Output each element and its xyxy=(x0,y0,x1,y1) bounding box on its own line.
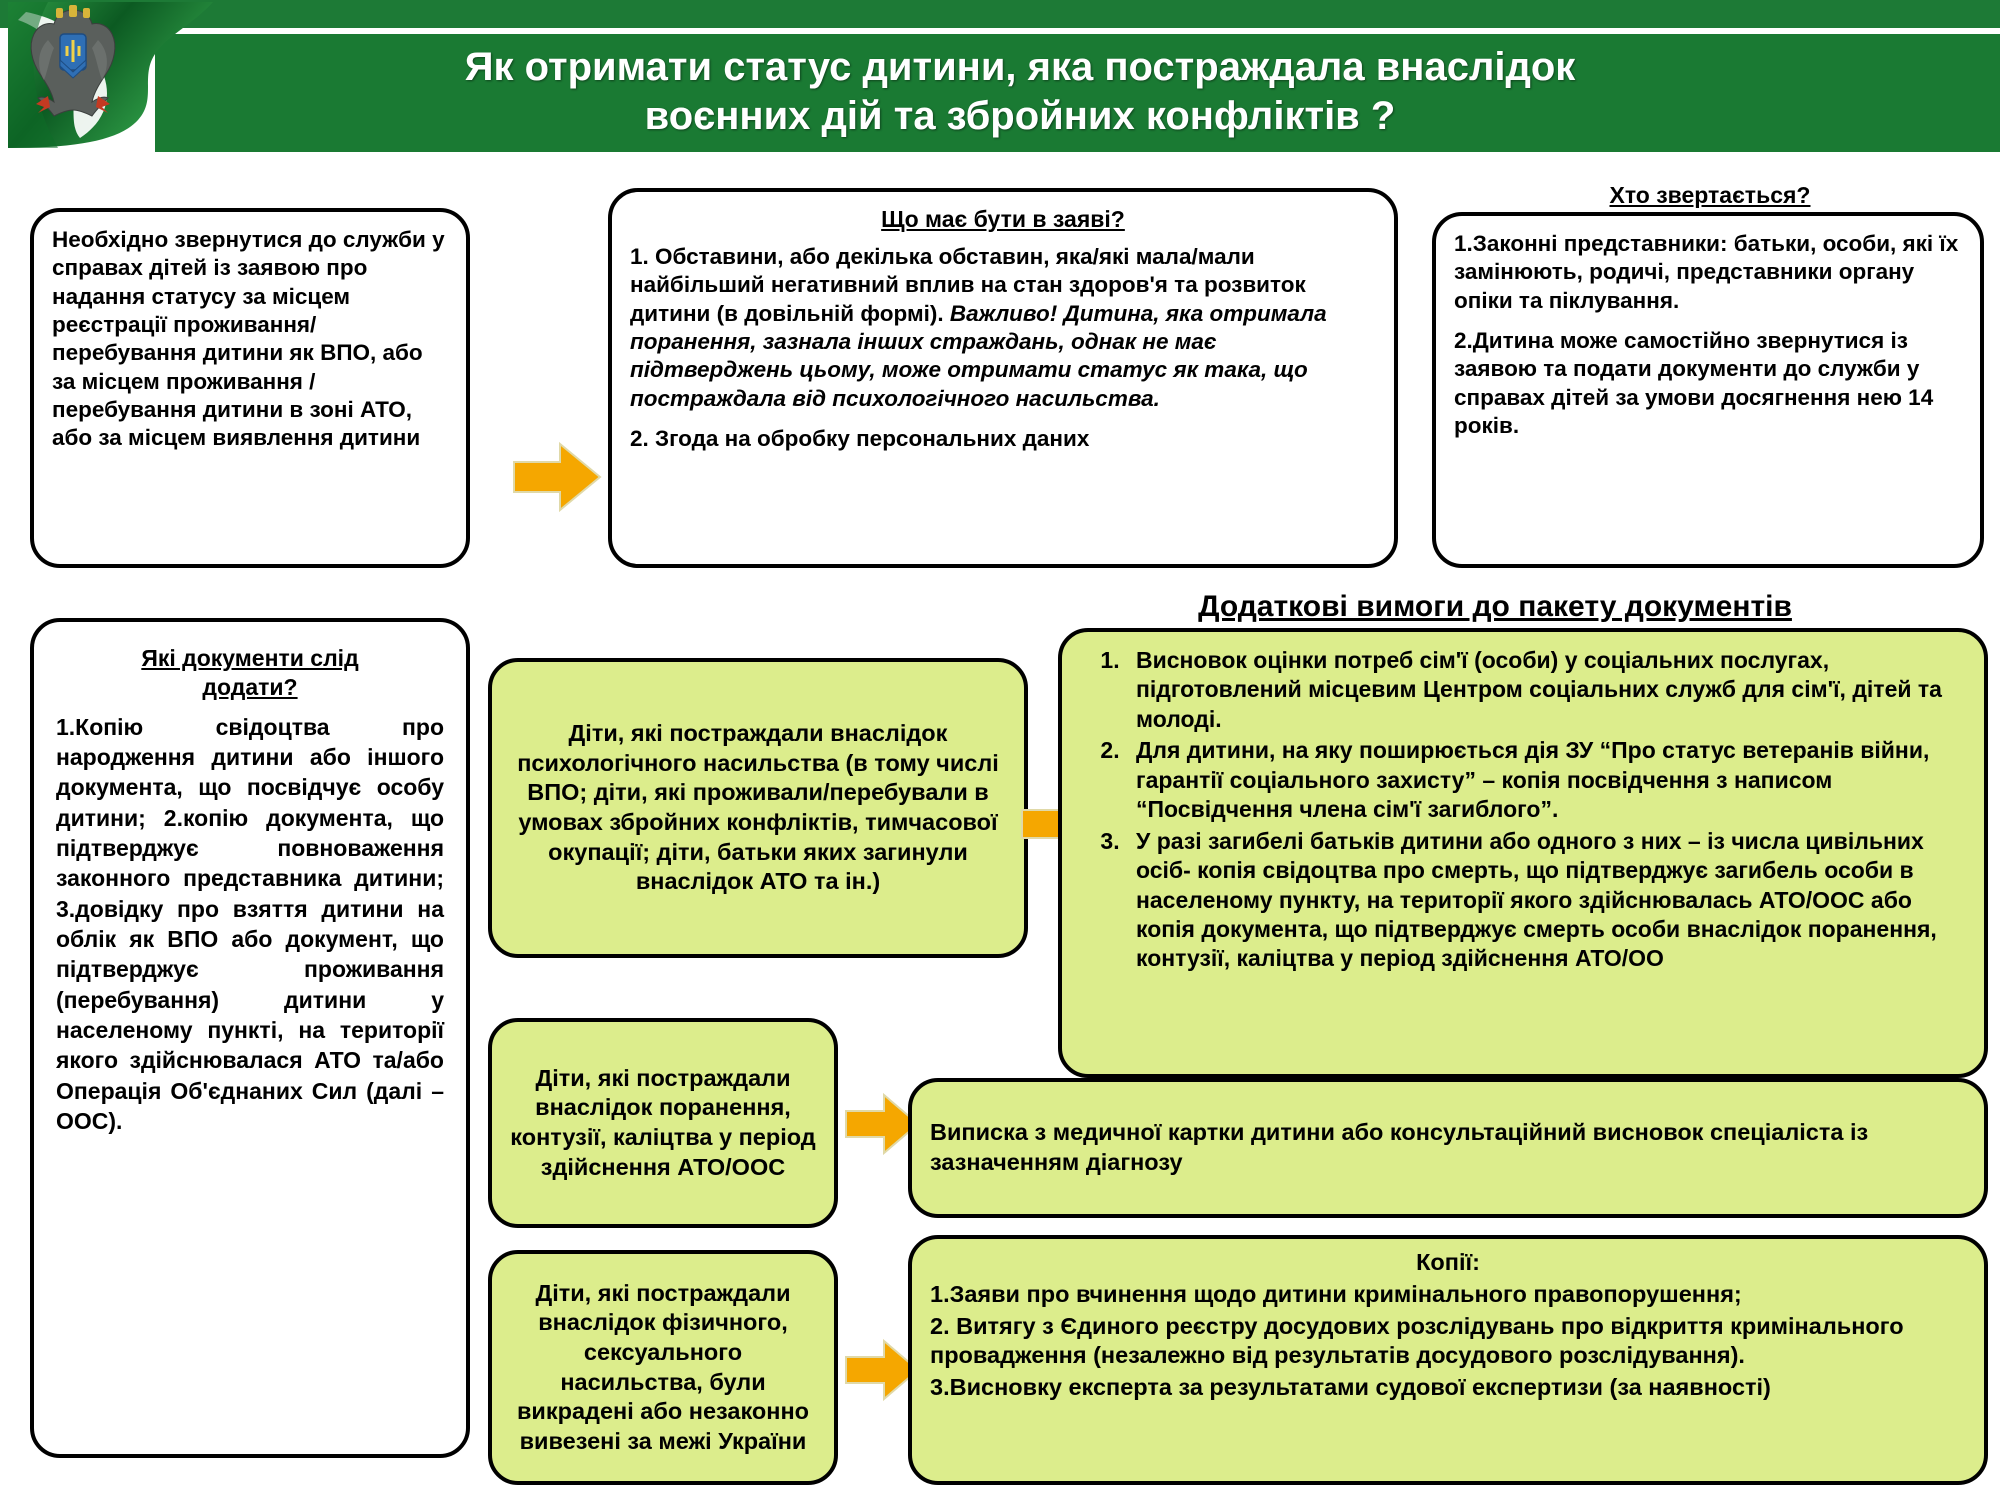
box-who-applies: 1.Законні представники: батьки, особи, я… xyxy=(1432,212,1984,568)
box-medical-extract: Виписка з медичної картки дитини або кон… xyxy=(908,1078,1988,1218)
page-title: Як отримати статус дитини, яка постражда… xyxy=(250,36,1790,148)
arrow-apply-to-application xyxy=(512,440,602,514)
box-application-heading: Що має бути в заяві? xyxy=(630,206,1376,233)
box-copies-item-3: 3.Висновку експерта за результатами судо… xyxy=(930,1373,1966,1403)
category-wound-text: Діти, які постраждали внаслідок пораненн… xyxy=(510,1064,816,1182)
box-application-contents: Що має бути в заяві? 1. Обставини, або д… xyxy=(608,188,1398,568)
coat-of-arms-eagle-icon xyxy=(18,0,128,128)
additional-requirement-item: У разі загибелі батьків дитини або одног… xyxy=(1126,827,1970,974)
box-copies-item-2: 2. Витягу з Єдиного реєстру досудових ро… xyxy=(930,1312,1966,1371)
additional-requirements-ordered-list: Висновок оцінки потреб сім'ї (особи) у с… xyxy=(1070,646,1970,974)
box-copies-heading: Копії: xyxy=(930,1249,1966,1276)
box-documents-heading: Які документи слід додати? xyxy=(56,644,444,702)
box-category-physical-sexual-violence: Діти, які постраждали внаслідок фізичног… xyxy=(488,1250,838,1485)
box-copies: Копії: 1.Заяви про вчинення щодо дитини … xyxy=(908,1235,1988,1485)
box-who-item-2: 2.Дитина може самостійно звернутися із з… xyxy=(1454,327,1962,440)
box-application-item-1: 1. Обставини, або декілька обставин, яка… xyxy=(630,243,1376,413)
box-medical-extract-text: Виписка з медичної картки дитини або кон… xyxy=(930,1118,1966,1177)
header-top-stripe xyxy=(0,0,2000,28)
additional-requirement-item: Для дитини, на яку поширюється дія ЗУ “П… xyxy=(1126,736,1970,824)
box-category-wound: Діти, які постраждали внаслідок пораненн… xyxy=(488,1018,838,1228)
category-psychological-text: Діти, які постраждали внаслідок психолог… xyxy=(510,719,1006,897)
box-who-item-1: 1.Законні представники: батьки, особи, я… xyxy=(1454,230,1962,315)
section-additional-requirements-title: Додаткові вимоги до пакету документів xyxy=(1000,590,1990,624)
box-documents-to-attach: Які документи слід додати? 1.Копію свідо… xyxy=(30,618,470,1458)
box-copies-item-1: 1.Заяви про вчинення щодо дитини криміна… xyxy=(930,1280,1966,1310)
box-where-to-apply: Необхідно звернутися до служби у справах… xyxy=(30,208,470,568)
box-additional-requirements-list: Висновок оцінки потреб сім'ї (особи) у с… xyxy=(1058,628,1988,1078)
documents-heading-line1: Які документи слід xyxy=(141,645,358,671)
box-where-to-apply-text: Необхідно звернутися до служби у справах… xyxy=(52,226,448,453)
box-category-psychological-violence: Діти, які постраждали внаслідок психолог… xyxy=(488,658,1028,958)
documents-heading-line2: додати? xyxy=(202,674,297,700)
header-band: Як отримати статус дитини, яка постражда… xyxy=(0,0,2000,152)
additional-requirement-item: Висновок оцінки потреб сім'ї (особи) у с… xyxy=(1126,646,1970,734)
box-who-heading: Хто звертається? xyxy=(1430,182,1990,209)
category-violence-text: Діти, які постраждали внаслідок фізичног… xyxy=(510,1279,816,1457)
emblem-and-flag xyxy=(0,0,230,150)
box-application-item-2: 2. Згода на обробку персональних даних xyxy=(630,425,1376,453)
box-documents-text: 1.Копію свідоцтва про народження дитини … xyxy=(56,712,444,1137)
